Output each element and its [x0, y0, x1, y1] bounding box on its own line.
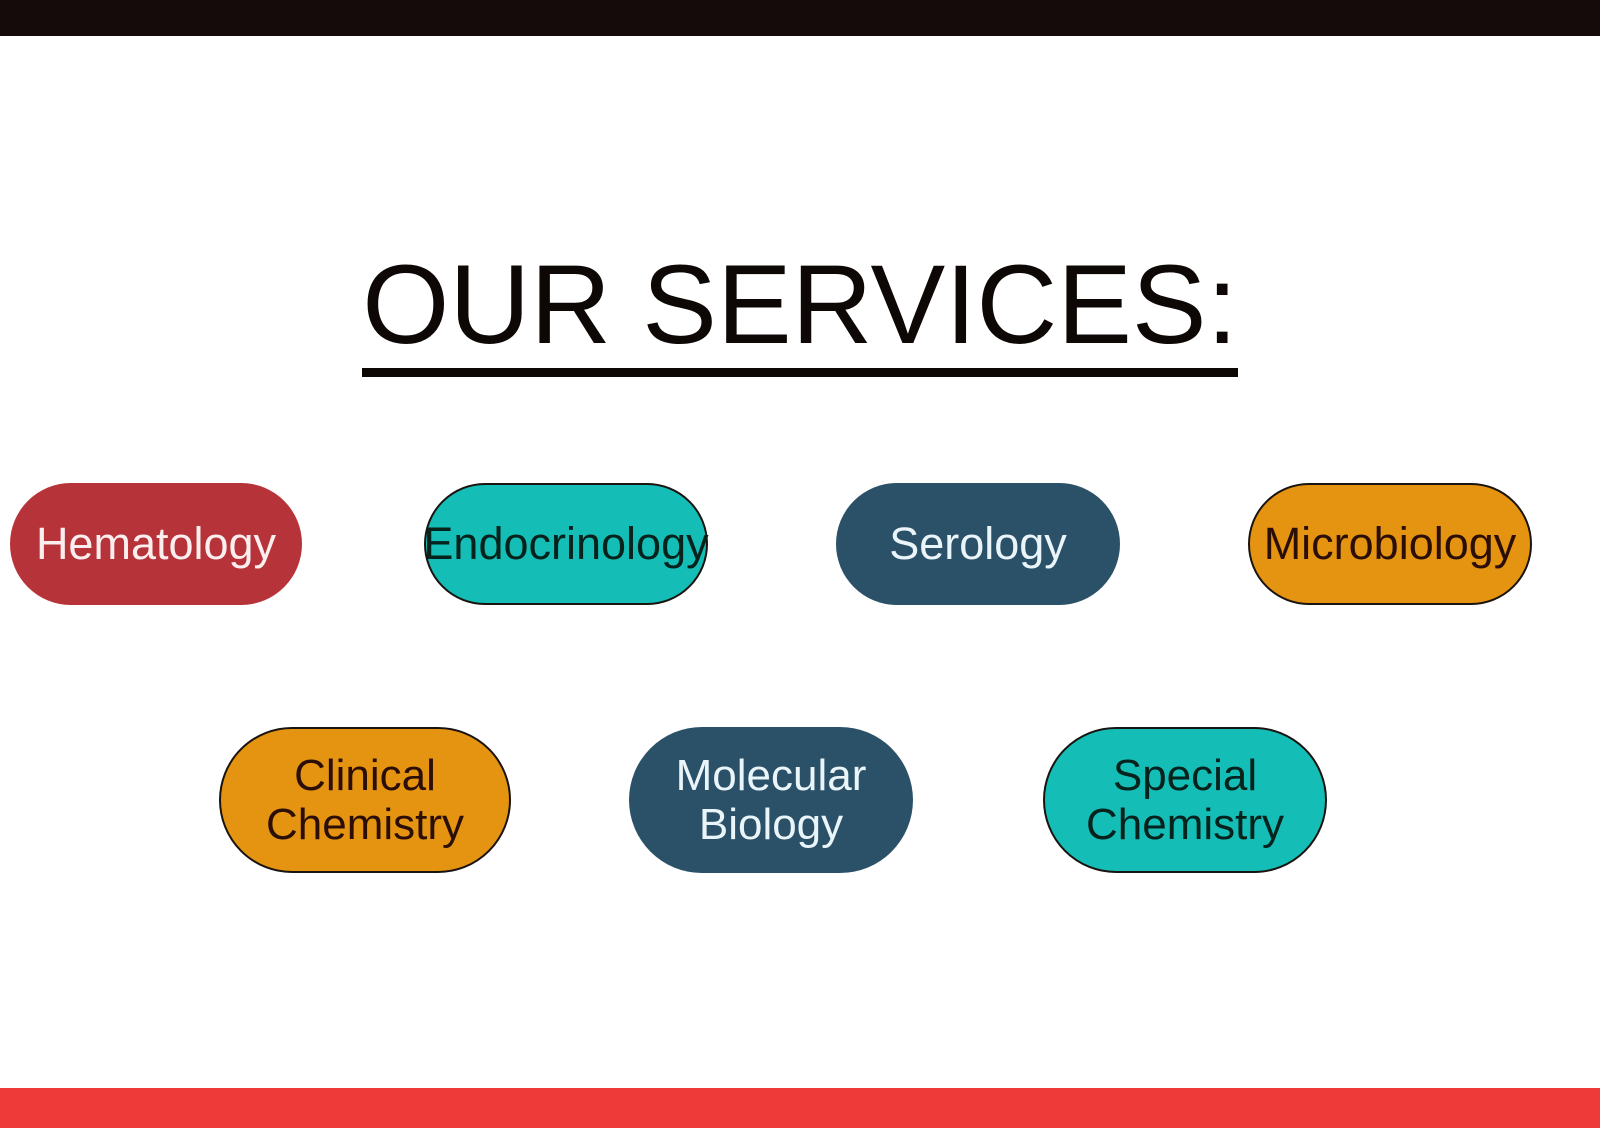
service-label-special-chemistry: Special Chemistry	[1086, 751, 1284, 850]
service-label-clinical-chemistry: Clinical Chemistry	[266, 751, 464, 850]
service-label-microbiology: Microbiology	[1264, 519, 1517, 569]
service-pill-hematology[interactable]: Hematology	[10, 483, 302, 605]
bottom-decorative-band	[0, 1088, 1600, 1128]
top-decorative-band	[0, 0, 1600, 36]
page-title: OUR SERVICES:	[362, 248, 1238, 377]
service-label-hematology: Hematology	[36, 519, 276, 569]
service-pill-molecular-biology[interactable]: Molecular Biology	[629, 727, 913, 873]
service-pill-clinical-chemistry[interactable]: Clinical Chemistry	[219, 727, 511, 873]
service-label-endocrinology: Endocrinology	[423, 519, 708, 569]
service-label-serology: Serology	[889, 519, 1067, 569]
service-label-molecular-biology: Molecular Biology	[676, 751, 867, 850]
slide-canvas: OUR SERVICES: Hematology Endocrinology S…	[0, 0, 1600, 1128]
service-pill-endocrinology[interactable]: Endocrinology	[424, 483, 708, 605]
title-container: OUR SERVICES:	[0, 248, 1600, 377]
service-pill-special-chemistry[interactable]: Special Chemistry	[1043, 727, 1327, 873]
service-pill-microbiology[interactable]: Microbiology	[1248, 483, 1532, 605]
service-pill-serology[interactable]: Serology	[836, 483, 1120, 605]
